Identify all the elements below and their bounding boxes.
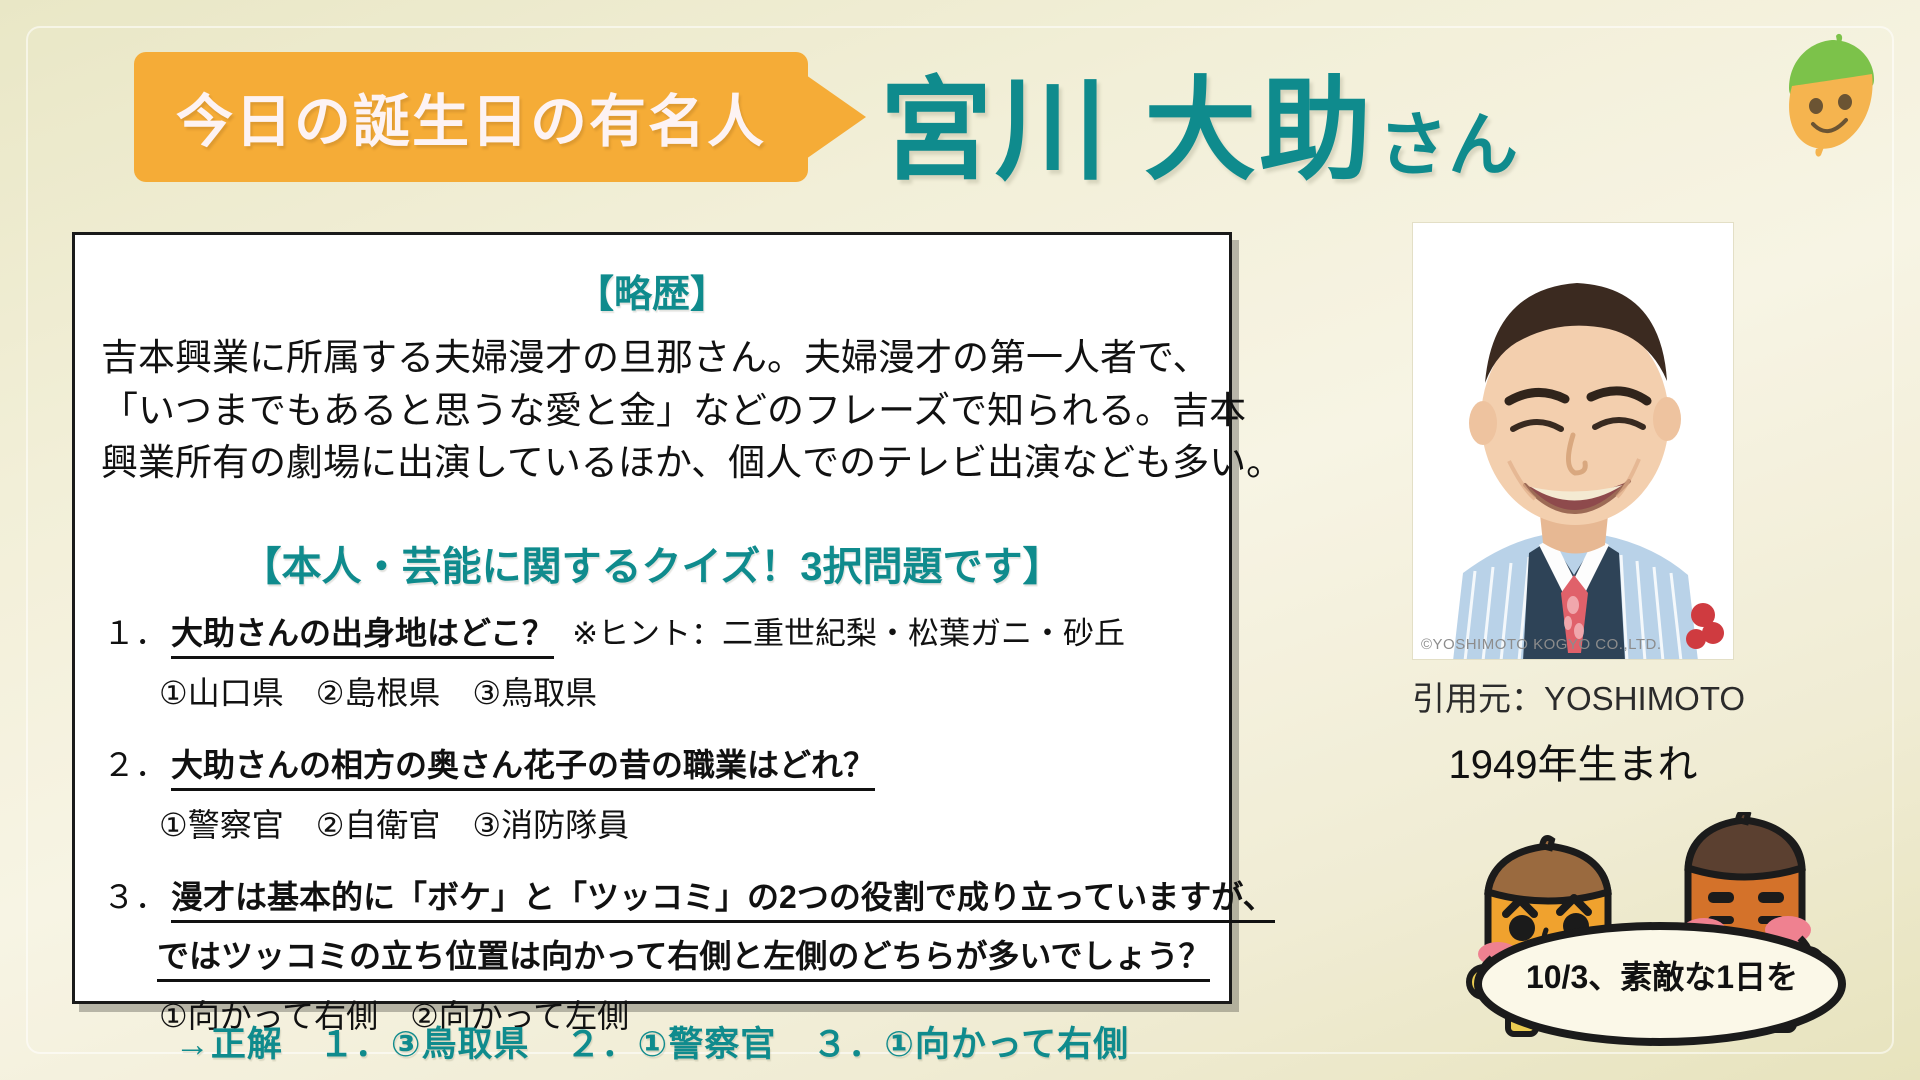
quiz-question: 漫才は基本的に「ボケ」と「ツッコミ」の2つの役割で成り立っていますが、	[171, 872, 1275, 923]
quiz-item: ２． 大助さんの相方の奥さん花子の昔の職業はどれ？ ①警察官 ②自衛官 ③消防隊…	[103, 740, 1205, 846]
page-header: 今日の誕生日の有名人 宮川 大助 さん	[0, 0, 1920, 215]
ribbon-label: 今日の誕生日の有名人	[176, 76, 766, 158]
today-birthday-ribbon: 今日の誕生日の有名人	[134, 52, 808, 182]
acorn-mascots-group	[1452, 812, 1872, 1052]
quiz-question: 大助さんの相方の奥さん花子の昔の職業はどれ？	[171, 740, 875, 791]
ribbon-arrow-icon	[806, 75, 866, 159]
quiz-options[interactable]: ①警察官 ②自衛官 ③消防隊員	[159, 800, 1205, 846]
quiz-heading: 【本人・芸能に関するクイズ！3択問題です】	[75, 534, 1229, 592]
content-card: 【略歴】 吉本興業に所属する夫婦漫才の旦那さん。夫婦漫才の第一人者で、 「いつま…	[72, 232, 1232, 1004]
bio-body: 吉本興業に所属する夫婦漫才の旦那さん。夫婦漫才の第一人者で、 「いつまでもあると…	[101, 332, 1203, 490]
bio-line: 興業所有の劇場に出演しているほか、個人でのテレビ出演なども多い。	[101, 437, 1203, 490]
bio-line: 吉本興業に所属する夫婦漫才の旦那さん。夫婦漫才の第一人者で、	[101, 332, 1203, 385]
quiz-answers: →正解 １．③鳥取県 ２．①警察官 ３．①向かって右側	[72, 1016, 1232, 1067]
quiz-number: ２．	[103, 740, 171, 786]
quiz-item: １． 大助さんの出身地はどこ？ ※ヒント：二重世紀梨・松葉ガニ・砂丘 ①山口県 …	[103, 608, 1205, 714]
person-name-suffix: さん	[1378, 89, 1518, 190]
photo-source-label: 引用元：YOSHIMOTO	[1412, 672, 1734, 720]
mascot-sign-text: 10/3、素敵な1日を	[1452, 952, 1872, 998]
quiz-question: 大助さんの出身地はどこ？	[171, 608, 554, 659]
quiz-number: ３．	[103, 872, 171, 918]
quiz-hint: ※ヒント：二重世紀梨・松葉ガニ・砂丘	[572, 608, 1125, 653]
person-name-main: 宮川 大助	[880, 40, 1374, 202]
page-title: 宮川 大助 さん	[880, 40, 1518, 202]
bio-line: 「いつまでもあると思うな愛と金」などのフレーズで知られる。吉本	[101, 385, 1203, 438]
quiz-number: １．	[103, 608, 171, 654]
quiz-list: １． 大助さんの出身地はどこ？ ※ヒント：二重世紀梨・松葉ガニ・砂丘 ①山口県 …	[75, 608, 1229, 1037]
person-photo-image	[1413, 223, 1734, 660]
person-photo: ©YOSHIMOTO KOGYO CO.,LTD.	[1412, 222, 1734, 660]
photo-credit: ©YOSHIMOTO KOGYO CO.,LTD.	[1421, 636, 1662, 653]
quiz-question-line2: ではツッコミの立ち位置は向かって右側と左側のどちらが多いでしょう？	[157, 931, 1210, 982]
birth-year-label: 1949年生まれ	[1412, 732, 1734, 790]
bio-heading: 【略歴】	[75, 263, 1229, 318]
quiz-item: ３． 漫才は基本的に「ボケ」と「ツッコミ」の2つの役割で成り立っていますが、 で…	[103, 872, 1205, 1037]
acorn-smiley-icon	[1780, 30, 1884, 158]
quiz-options[interactable]: ①山口県 ②島根県 ③鳥取県	[159, 668, 1205, 714]
